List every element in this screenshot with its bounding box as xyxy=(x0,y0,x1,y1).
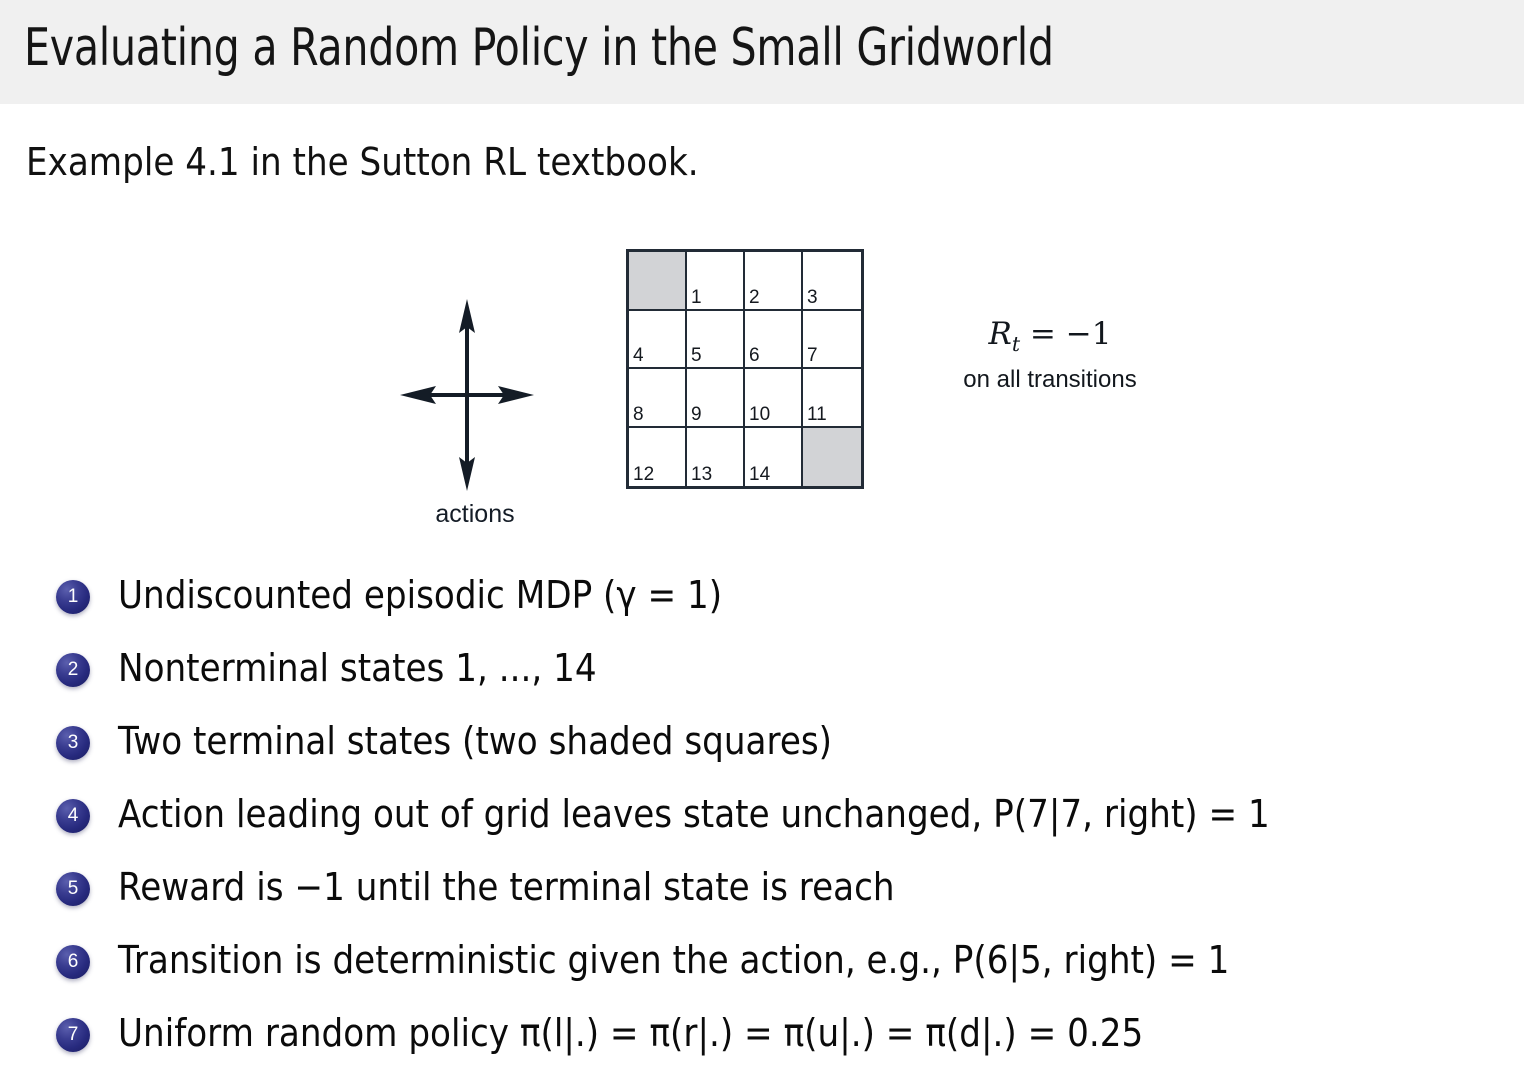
grid-cell-terminal-top-left xyxy=(629,252,687,311)
grid-cell-label: 7 xyxy=(807,346,818,366)
grid-cell-label: 11 xyxy=(807,405,827,425)
list-item: 3 Two terminal states (two shaded square… xyxy=(0,712,1524,785)
grid-cell-7: 7 xyxy=(803,311,861,370)
reward-note: Rt = −1 on all transitions xyxy=(910,315,1190,395)
list-item: 1 Undiscounted episodic MDP (γ = 1) xyxy=(0,566,1524,639)
list-bullet-badge: 4 xyxy=(56,799,90,833)
grid-cell-8: 8 xyxy=(629,369,687,428)
list-item: 7 Uniform random policy π(l|.) = π(r|.) … xyxy=(0,1004,1524,1077)
title-banner: Evaluating a Random Policy in the Small … xyxy=(0,0,1524,104)
grid-cell-label: 10 xyxy=(749,405,770,425)
grid-cell-label: 12 xyxy=(633,465,654,485)
grid-cell-1: 1 xyxy=(687,252,745,311)
figure-area: actions 1 2 3 4 5 6 7 8 9 10 11 12 13 14… xyxy=(0,230,1524,520)
gridworld-grid: 1 2 3 4 5 6 7 8 9 10 11 12 13 14 xyxy=(626,249,864,489)
intro-text: Example 4.1 in the Sutton RL textbook. xyxy=(26,139,699,185)
list-item: 2 Nonterminal states 1, ..., 14 xyxy=(0,639,1524,712)
actions-diagram: actions xyxy=(390,295,560,510)
grid-cell-terminal-bottom-right xyxy=(803,428,861,487)
grid-cell-2: 2 xyxy=(745,252,803,311)
grid-cell-13: 13 xyxy=(687,428,745,487)
list-item-text: Uniform random policy π(l|.) = π(r|.) = … xyxy=(118,1004,1383,1060)
grid-cell-11: 11 xyxy=(803,369,861,428)
reward-formula: Rt = −1 xyxy=(910,315,1190,363)
list-item: 5 Reward is −1 until the terminal state … xyxy=(0,858,1524,931)
grid-cell-label: 3 xyxy=(807,288,818,308)
list-item-text: Undiscounted episodic MDP (γ = 1) xyxy=(118,566,1383,622)
grid-cell-label: 8 xyxy=(633,405,644,425)
grid-cell-label: 2 xyxy=(749,288,760,308)
grid-cell-10: 10 xyxy=(745,369,803,428)
four-direction-arrow-cross-icon xyxy=(400,295,550,495)
list-bullet-badge: 1 xyxy=(56,580,90,614)
grid-cell-label: 9 xyxy=(691,405,702,425)
list-item-text: Nonterminal states 1, ..., 14 xyxy=(118,639,1383,695)
grid-cell-9: 9 xyxy=(687,369,745,428)
actions-label: actions xyxy=(390,500,560,529)
list-item-text: Transition is deterministic given the ac… xyxy=(118,931,1383,987)
list-bullet-badge: 6 xyxy=(56,945,90,979)
grid-cell-3: 3 xyxy=(803,252,861,311)
enumerated-list: 1 Undiscounted episodic MDP (γ = 1) 2 No… xyxy=(0,566,1524,1077)
grid-cell-4: 4 xyxy=(629,311,687,370)
list-item-text: Two terminal states (two shaded squares) xyxy=(118,712,1383,768)
page-title: Evaluating a Random Policy in the Small … xyxy=(24,17,1054,79)
list-bullet-badge: 3 xyxy=(56,726,90,760)
reward-symbol: R xyxy=(989,316,1012,352)
grid-cell-label: 14 xyxy=(749,465,770,485)
list-bullet-badge: 5 xyxy=(56,872,90,906)
grid-cell-6: 6 xyxy=(745,311,803,370)
grid-cell-12: 12 xyxy=(629,428,687,487)
list-bullet-badge: 2 xyxy=(56,653,90,687)
grid-cell-label: 4 xyxy=(633,346,644,366)
reward-value: = −1 xyxy=(1020,316,1111,352)
grid-cell-label: 5 xyxy=(691,346,702,366)
list-item-text: Action leading out of grid leaves state … xyxy=(118,785,1383,841)
grid-cell-label: 13 xyxy=(691,465,712,485)
list-bullet-badge: 7 xyxy=(56,1018,90,1052)
list-item: 4 Action leading out of grid leaves stat… xyxy=(0,785,1524,858)
reward-caption: on all transitions xyxy=(910,365,1190,395)
list-item: 6 Transition is deterministic given the … xyxy=(0,931,1524,1004)
grid-cell-5: 5 xyxy=(687,311,745,370)
list-item-text: Reward is −1 until the terminal state is… xyxy=(118,858,1383,914)
reward-subscript: t xyxy=(1012,332,1020,356)
grid-cell-14: 14 xyxy=(745,428,803,487)
grid-cell-label: 1 xyxy=(691,288,702,308)
grid-cell-label: 6 xyxy=(749,346,760,366)
